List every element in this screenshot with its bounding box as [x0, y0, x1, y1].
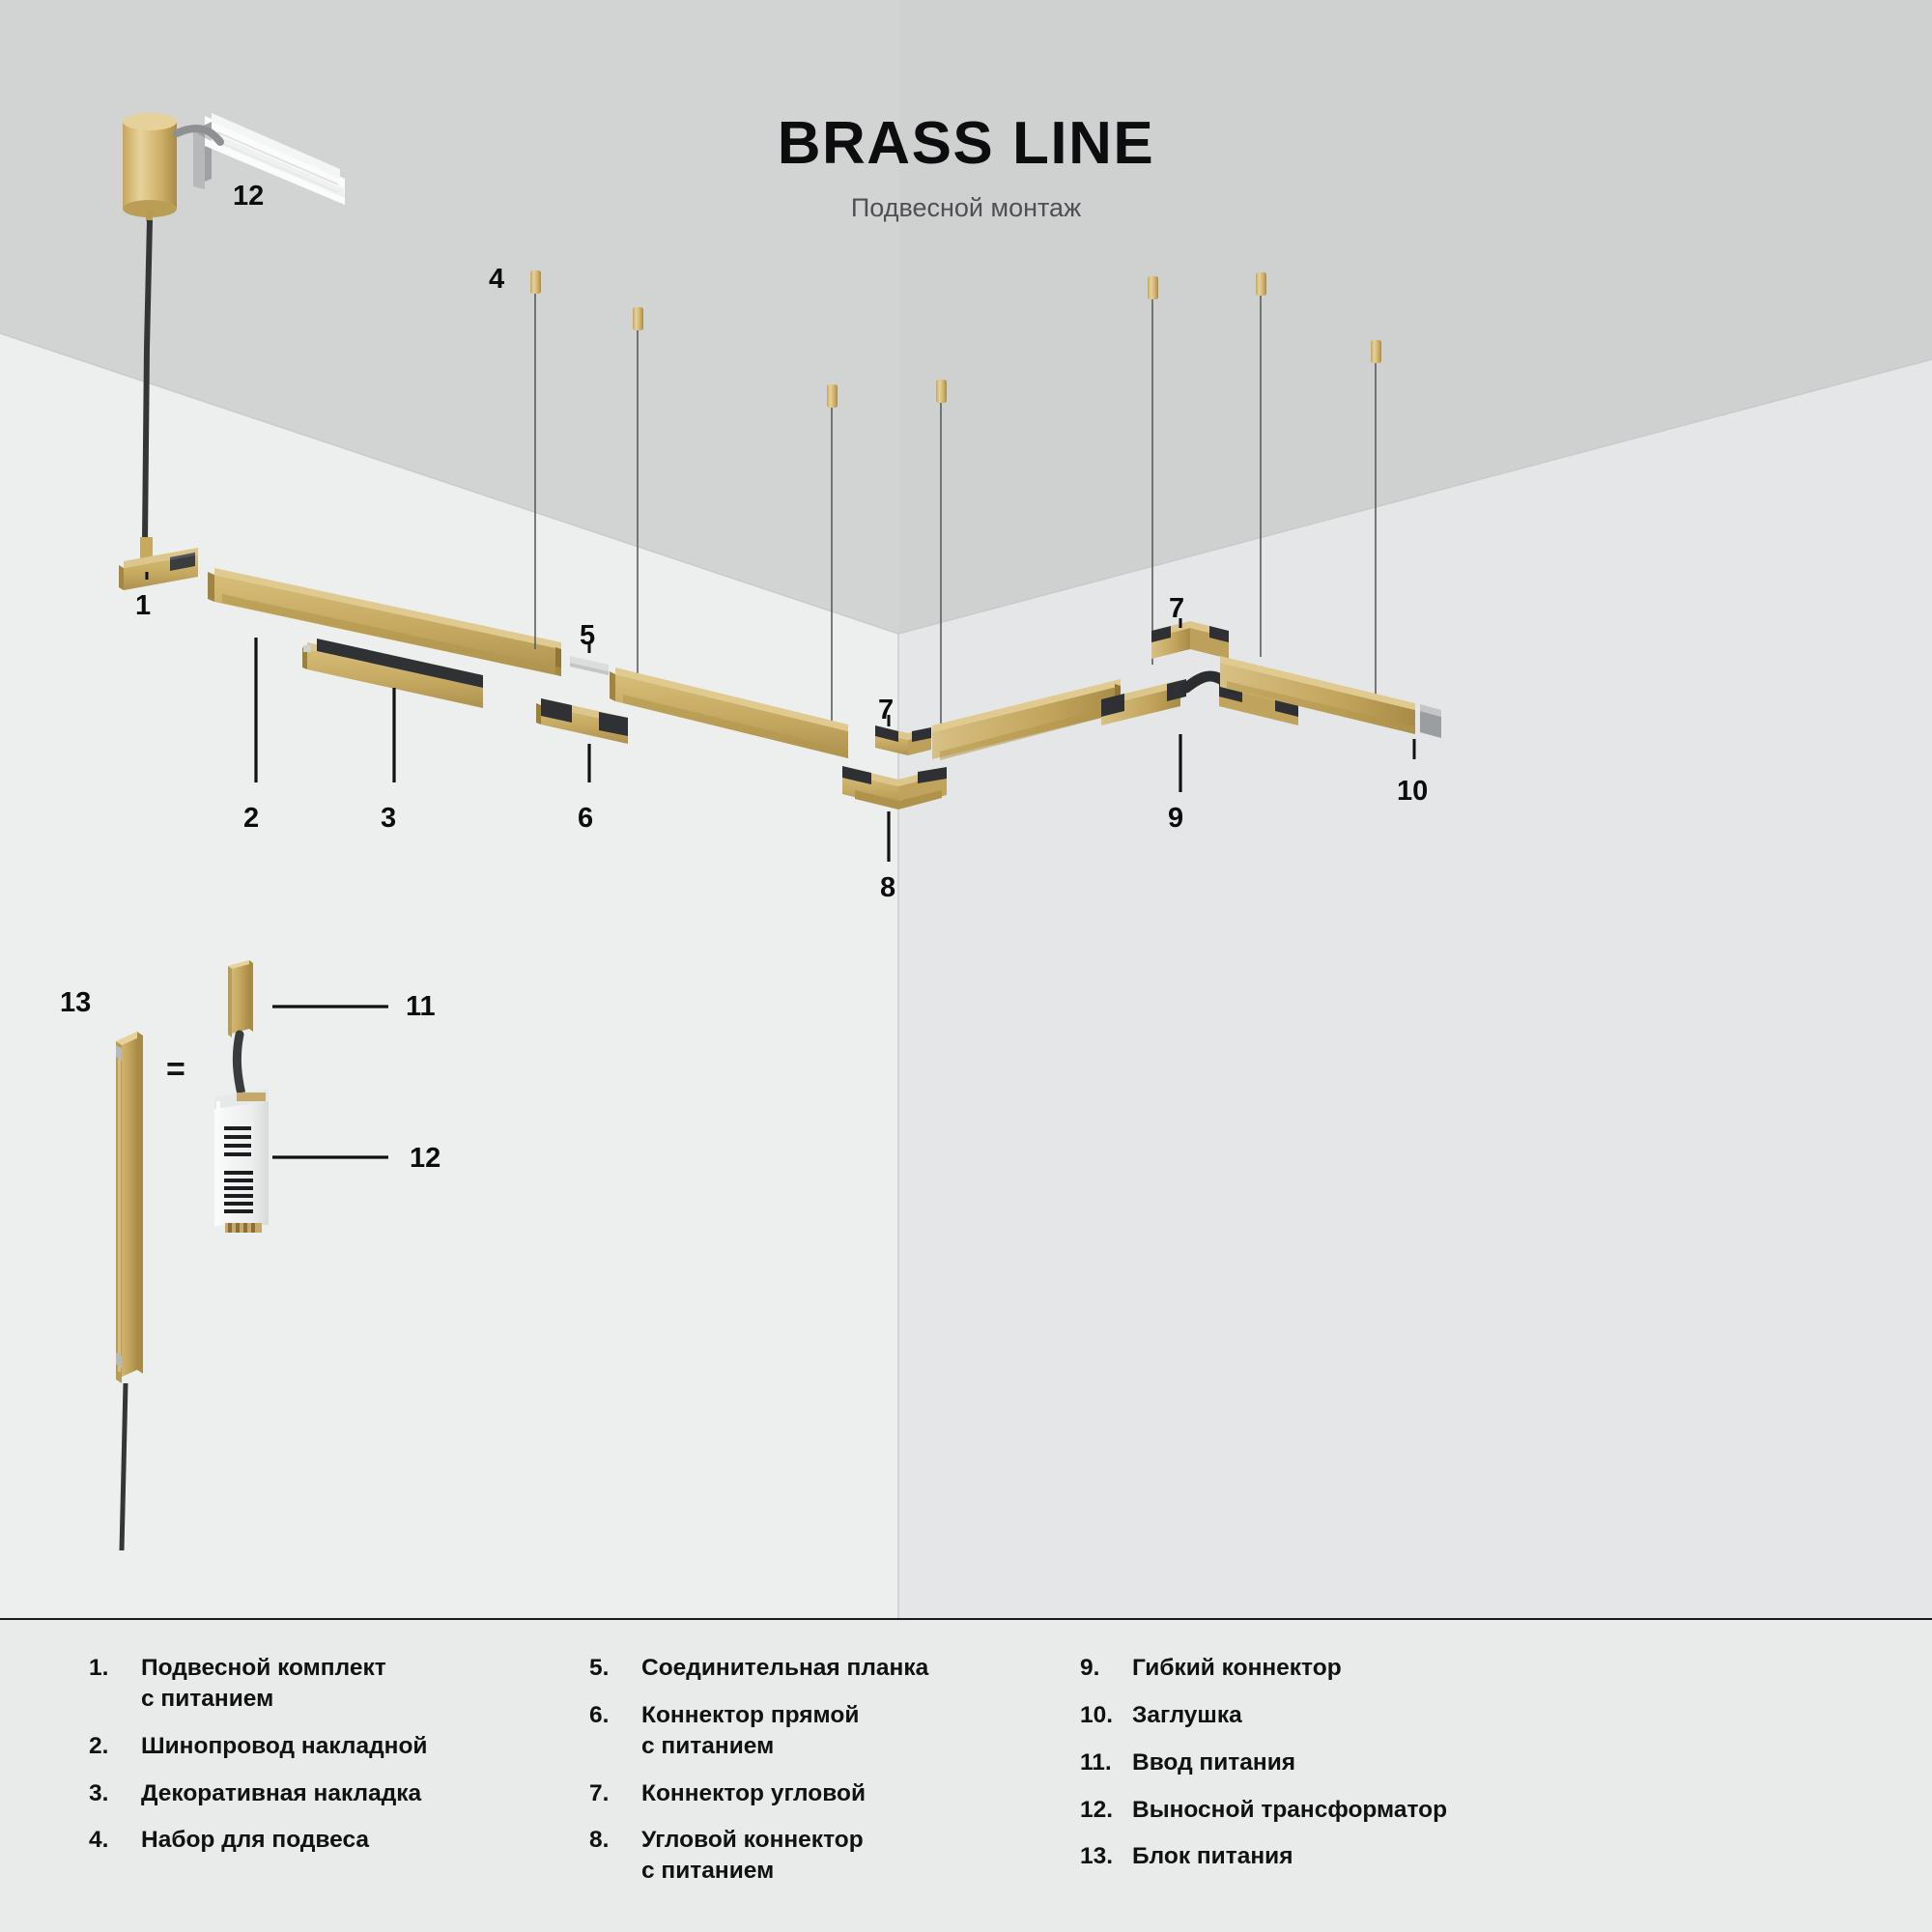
page-title: BRASS LINE [0, 114, 1932, 174]
legend-item-label: Ввод питания [1132, 1747, 1295, 1778]
callout-c13: 13 [60, 989, 91, 1017]
callout-c12-bottom: 12 [410, 1145, 440, 1173]
legend-item-label: Угловой коннектор с питанием [641, 1825, 864, 1887]
legend-item-number: 11. [1080, 1747, 1132, 1778]
room-scene [0, 0, 1932, 1618]
callout-c7-left: 7 [878, 696, 894, 724]
legend-item: 10.Заглушка [1080, 1700, 1534, 1731]
legend-item-number: 10. [1080, 1700, 1132, 1731]
legend-item: 11.Ввод питания [1080, 1747, 1534, 1778]
legend-item-label: Выносной трансформатор [1132, 1795, 1447, 1826]
legend-item: 8.Угловой коннектор с питанием [589, 1825, 1005, 1887]
legend-item-number: 2. [89, 1731, 141, 1762]
legend-item-label: Шинопровод накладной [141, 1731, 427, 1762]
legend-item-number: 6. [589, 1700, 641, 1731]
callout-c2: 2 [243, 805, 259, 833]
legend-item: 9.Гибкий коннектор [1080, 1653, 1534, 1684]
legend-item: 6.Коннектор прямой с питанием [589, 1700, 1005, 1762]
legend-item-number: 5. [589, 1653, 641, 1684]
legend-item-number: 9. [1080, 1653, 1132, 1684]
page-subtitle: Подвесной монтаж [0, 195, 1932, 221]
legend-columns: 1.Подвесной комплект с питанием2.Шинопро… [0, 1620, 1932, 1932]
legend-item-number: 13. [1080, 1841, 1132, 1872]
legend-item-number: 8. [589, 1825, 641, 1856]
callout-c4: 4 [489, 266, 504, 294]
legend-item-label: Набор для подвеса [141, 1825, 369, 1856]
end-cap [1420, 704, 1441, 738]
legend-panel: 1.Подвесной комплект с питанием2.Шинопро… [0, 1618, 1932, 1932]
scene-svg [0, 0, 1932, 1618]
product-diagram-page: BRASS LINE Подвесной монтаж 124157710892… [0, 0, 1932, 1932]
legend-item-number: 3. [89, 1778, 141, 1809]
equals-sign: = [166, 1053, 185, 1086]
callout-c10: 10 [1397, 778, 1428, 806]
legend-item: 1.Подвесной комплект с питанием [89, 1653, 514, 1715]
legend-item-label: Коннектор прямой с питанием [641, 1700, 859, 1762]
legend-item-label: Соединительная планка [641, 1653, 928, 1684]
legend-item: 13.Блок питания [1080, 1841, 1534, 1872]
callout-c8: 8 [880, 874, 895, 902]
remote-transformer-bottom [214, 1089, 269, 1233]
legend-item-number: 4. [89, 1825, 141, 1856]
legend-item-number: 7. [589, 1778, 641, 1809]
legend-item-number: 1. [89, 1653, 141, 1684]
legend-item: 5.Соединительная планка [589, 1653, 1005, 1684]
legend-item-label: Подвесной комплект с питанием [141, 1653, 386, 1715]
legend-item-label: Заглушка [1132, 1700, 1242, 1731]
callout-c11: 11 [406, 993, 436, 1021]
callout-c3: 3 [381, 805, 396, 833]
legend-item-label: Гибкий коннектор [1132, 1653, 1342, 1684]
legend-item-label: Декоративная накладка [141, 1778, 421, 1809]
callout-c7-right: 7 [1169, 595, 1184, 623]
legend-item-label: Блок питания [1132, 1841, 1293, 1872]
legend-col-3: 9.Гибкий коннектор10.Заглушка11.Ввод пит… [1080, 1653, 1534, 1889]
callout-c9: 9 [1168, 805, 1183, 833]
legend-item: 2.Шинопровод накладной [89, 1731, 514, 1762]
legend-col-2: 5.Соединительная планка6.Коннектор прямо… [589, 1653, 1005, 1903]
legend-item: 3.Декоративная накладка [89, 1778, 514, 1809]
legend-item-label: Коннектор угловой [641, 1778, 866, 1809]
callout-c6: 6 [578, 805, 593, 833]
title-block: BRASS LINE Подвесной монтаж [0, 114, 1932, 221]
legend-item: 7.Коннектор угловой [589, 1778, 1005, 1809]
callout-c12-top: 12 [233, 183, 264, 211]
callout-c1: 1 [135, 592, 151, 620]
callout-c5: 5 [580, 622, 595, 650]
legend-item-number: 12. [1080, 1795, 1132, 1826]
legend-col-1: 1.Подвесной комплект с питанием2.Шинопро… [89, 1653, 514, 1872]
legend-item: 12.Выносной трансформатор [1080, 1795, 1534, 1826]
legend-item: 4.Набор для подвеса [89, 1825, 514, 1856]
